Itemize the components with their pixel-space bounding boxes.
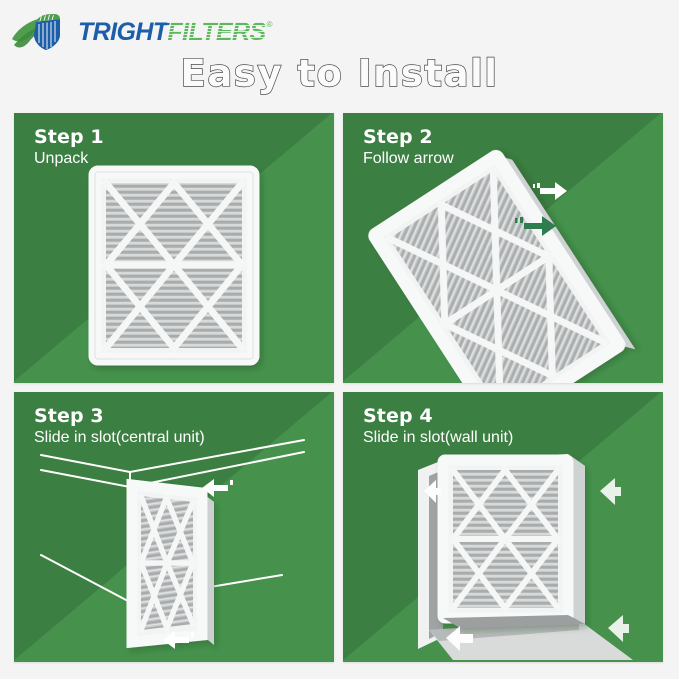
step-panel-1[interactable]: Step 1 Unpack (14, 113, 334, 383)
step-4-label: Step 4 (363, 405, 513, 427)
white-left-arrow-lower-right-icon (608, 615, 629, 642)
page-title: Easy to Install (0, 52, 679, 95)
brand-name-secondary: FILTERS (167, 18, 265, 47)
step-3-label: Step 3 (34, 405, 205, 427)
step-panel-3[interactable]: Step 3 Slide in slot(central unit) (14, 392, 334, 662)
step-2-label: Step 2 (363, 126, 454, 148)
step-panel-4[interactable]: Step 4 Slide in slot(wall unit) (343, 392, 663, 662)
step-4-heading: Step 4 Slide in slot(wall unit) (363, 405, 513, 448)
steps-grid: Step 1 Unpack (14, 113, 663, 662)
step-3-heading: Step 3 Slide in slot(central unit) (34, 405, 205, 448)
step-1-description: Unpack (34, 150, 104, 169)
step-1-label: Step 1 (34, 126, 104, 148)
trademark-symbol: ® (267, 20, 273, 29)
brand-name-primary: TRIGHT (78, 18, 167, 47)
step-1-heading: Step 1 Unpack (34, 126, 104, 169)
page-header: TRIGHTFILTERS® Easy to Install (0, 0, 679, 113)
step-2-heading: Step 2 Follow arrow (363, 126, 454, 169)
step-2-description: Follow arrow (363, 150, 454, 169)
leaf-shield-logo-icon (10, 13, 72, 51)
white-left-arrow-upper-right-icon (600, 478, 621, 505)
brand-logo[interactable]: TRIGHTFILTERS® (10, 13, 272, 51)
white-right-arrow-icon (533, 182, 567, 200)
step-4-description: Slide in slot(wall unit) (363, 429, 513, 448)
step-panel-2[interactable]: Step 2 Follow arrow (343, 113, 663, 383)
step-3-description: Slide in slot(central unit) (34, 429, 205, 448)
